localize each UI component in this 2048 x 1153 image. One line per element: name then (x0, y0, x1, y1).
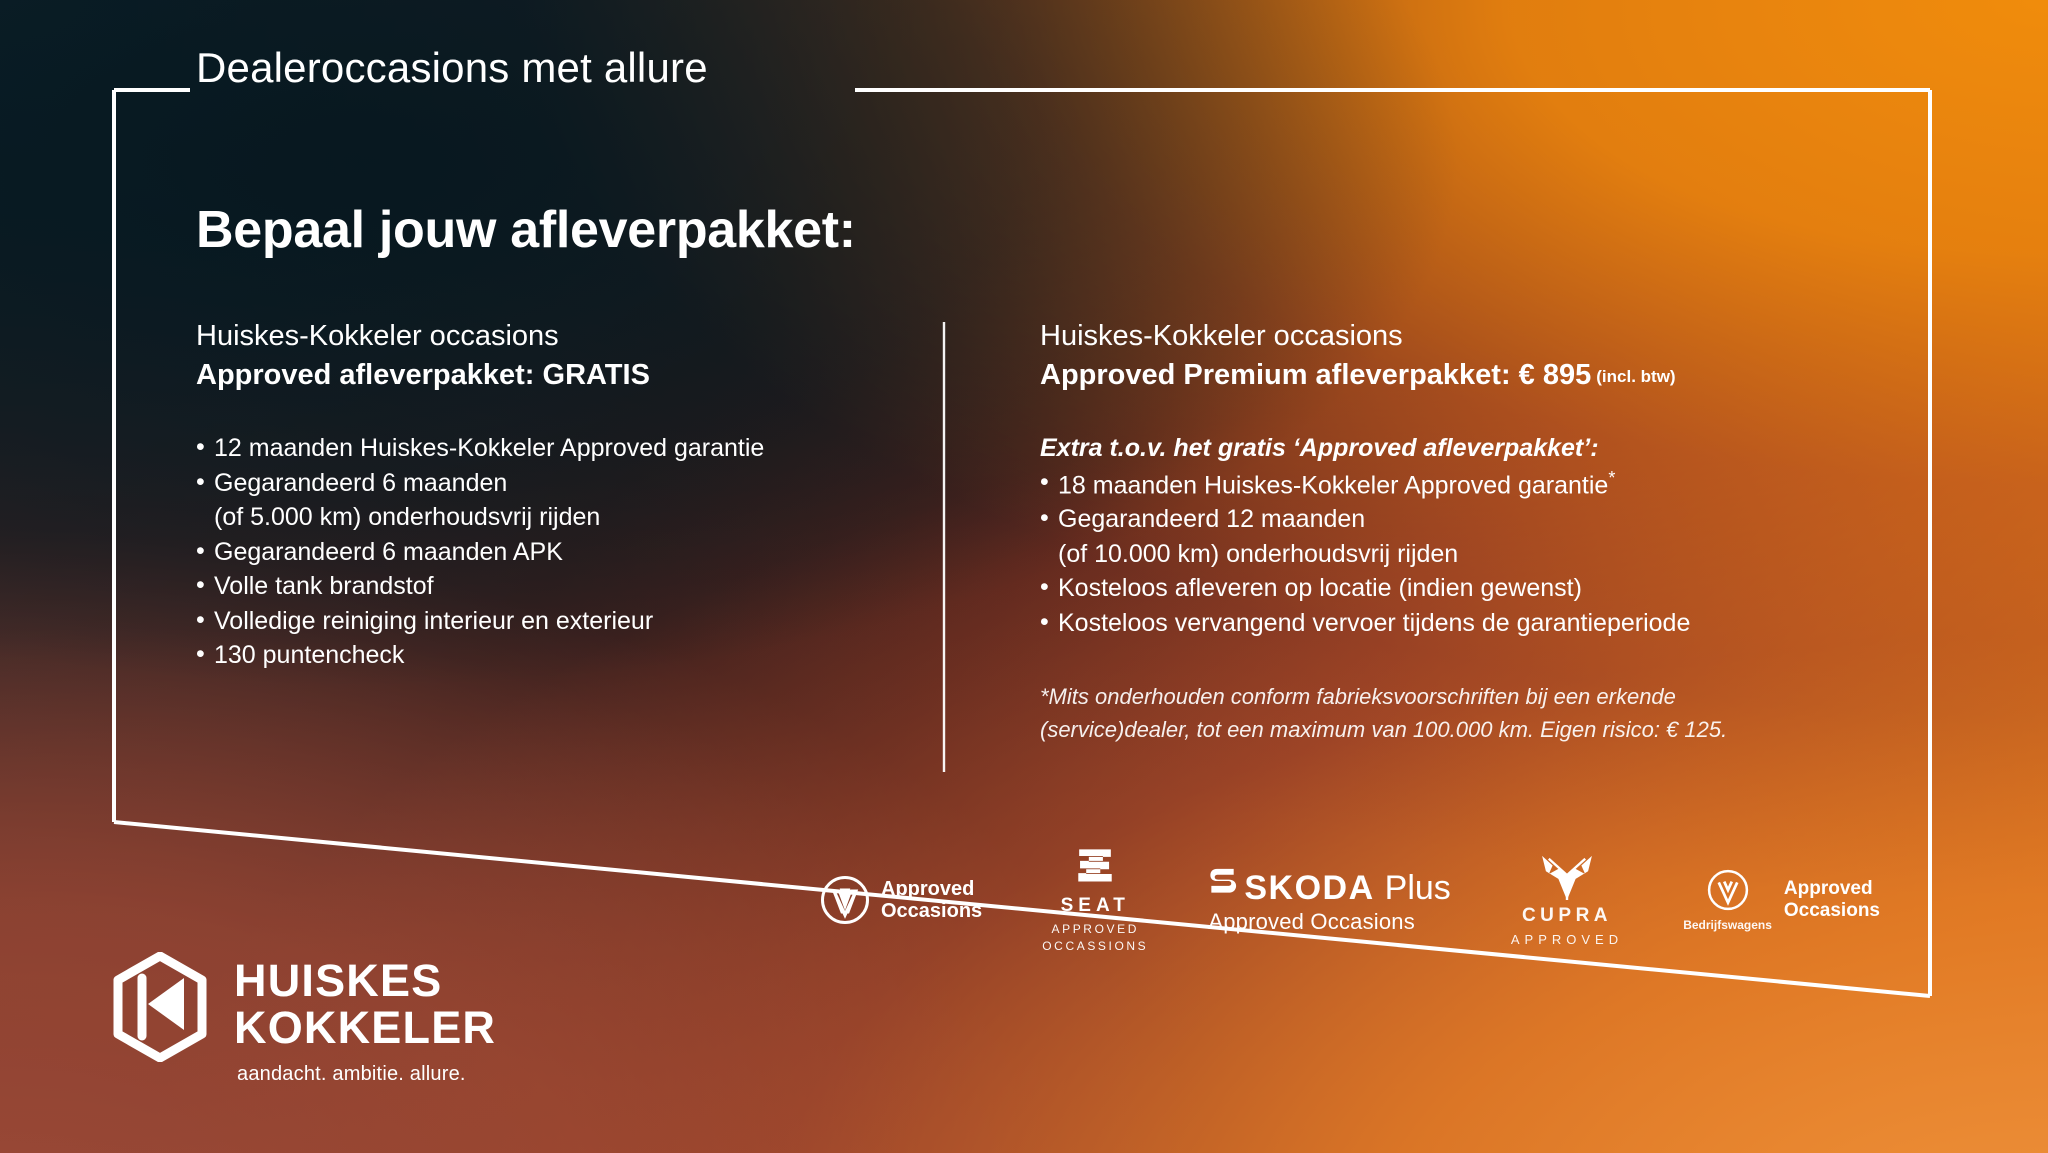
vw-label-line-2: Occasions (881, 900, 982, 922)
list-item: Kosteloos afleveren op locatie (indien g… (1040, 571, 1860, 606)
package-column-premium: Huiskes-Kokkeler occasions Approved Prem… (1040, 318, 1860, 746)
list-item: Volledige reiniging interieur en exterie… (196, 604, 896, 639)
vwb-label-line-2: Occasions (1784, 900, 1880, 922)
footnote-line-1: *Mits onderhouden conform fabrieksvoorsc… (1040, 680, 1860, 713)
list-item-label: Kosteloos vervangend vervoer tijdens de … (1058, 609, 1690, 637)
list-item-label: (of 5.000 km) onderhoudsvrij rijden (214, 503, 600, 531)
standard-package-eyebrow: Huiskes-Kokkeler occasions (196, 318, 896, 355)
list-item: (of 5.000 km) onderhoudsvrij rijden (196, 500, 896, 535)
brand-volkswagen-approved-occasions: Approved Occasions (820, 875, 982, 925)
cupra-wordmark: CUPRA (1522, 905, 1612, 927)
vw-bedrijfswagens-mark: Bedrijfswagens (1683, 869, 1772, 932)
skoda-plus-label: Plus (1385, 869, 1451, 908)
dealer-name-block: HUISKES KOKKELER aandacht. ambitie. allu… (234, 958, 496, 1086)
skoda-logo-icon (1208, 865, 1238, 899)
vwb-label-line-1: Approved (1784, 878, 1880, 900)
list-item-label: Gegarandeerd 6 maanden APK (214, 538, 563, 566)
skoda-wordmark: SKODA (1244, 869, 1374, 908)
premium-package-eyebrow: Huiskes-Kokkeler occasions (1040, 318, 1860, 355)
list-item-label: Gegarandeerd 6 maanden (214, 469, 507, 497)
brand-cupra-approved: CUPRA APPROVED (1511, 854, 1623, 947)
vw-label-line-1: Approved (881, 878, 982, 900)
volkswagen-logo-icon (820, 875, 870, 925)
seat-sub-label: APPROVED OCCASSIONS (1042, 921, 1148, 956)
seat-logo-icon (1073, 845, 1117, 889)
list-item: (of 10.000 km) onderhoudsvrij rijden (1040, 537, 1860, 572)
volkswagen-logo-icon (1707, 869, 1749, 911)
list-item: Gegarandeerd 12 maanden (1040, 502, 1860, 537)
brand-skoda-plus-approved-occasions: SKODA Plus Approved Occasions (1208, 865, 1450, 935)
list-item-label: Gegarandeerd 12 maanden (1058, 505, 1365, 533)
list-item-label: 18 maanden Huiskes-Kokkeler Approved gar… (1058, 471, 1608, 499)
cupra-sub-label: APPROVED (1511, 932, 1623, 947)
list-item-label: (of 10.000 km) onderhoudsvrij rijden (1058, 540, 1458, 568)
seat-sub-line-1: APPROVED (1042, 921, 1148, 938)
seat-sub-line-2: OCCASSIONS (1042, 938, 1148, 955)
list-item: Kosteloos vervangend vervoer tijdens de … (1040, 606, 1860, 641)
premium-package-title: Approved Premium afleverpakket: € 895(in… (1040, 357, 1860, 394)
vw-approved-occasions-label: Approved Occasions (881, 878, 982, 923)
page-title: Bepaal jouw afleverpakket: (196, 200, 856, 260)
dealer-name-line-2: KOKKELER (234, 1005, 496, 1052)
dealer-logo: HUISKES KOKKELER aandacht. ambitie. allu… (112, 952, 496, 1086)
huiskes-kokkeler-hexagon-icon (112, 952, 208, 1062)
list-item-label: Volle tank brandstof (214, 572, 434, 600)
list-item: 130 puntencheck (196, 638, 896, 673)
cupra-logo-icon (1538, 854, 1596, 900)
footnote-line-2: (service)dealer, tot een maximum van 100… (1040, 713, 1860, 746)
brand-volkswagen-bedrijfswagens: Bedrijfswagens Approved Occasions (1683, 869, 1880, 932)
kicker-label: Dealeroccasions met allure (196, 44, 708, 92)
standard-package-feature-list: 12 maanden Huiskes-Kokkeler Approved gar… (196, 431, 896, 673)
list-item-label: 12 maanden Huiskes-Kokkeler Approved gar… (214, 434, 764, 462)
premium-package-vat-note: (incl. btw) (1596, 367, 1675, 386)
dealer-tagline: aandacht. ambitie. allure. (237, 1063, 496, 1086)
list-item: Volle tank brandstof (196, 569, 896, 604)
footnote-marker: * (1608, 468, 1615, 488)
list-item: 18 maanden Huiskes-Kokkeler Approved gar… (1040, 466, 1860, 503)
premium-package-feature-list: 18 maanden Huiskes-Kokkeler Approved gar… (1040, 466, 1860, 641)
list-item-label: Volledige reiniging interieur en exterie… (214, 607, 653, 635)
premium-footnote: *Mits onderhouden conform fabrieksvoorsc… (1040, 680, 1860, 746)
brand-logo-strip: Approved Occasions SEAT APPROVED OCCASSI… (820, 845, 1880, 955)
skoda-sub-label: Approved Occasions (1208, 909, 1415, 935)
vw-bedrijfswagens-approved-occasions-label: Approved Occasions (1784, 878, 1880, 921)
premium-package-price-label: Approved Premium afleverpakket: € 895 (1040, 359, 1591, 391)
seat-wordmark: SEAT (1061, 895, 1130, 917)
list-item: Gegarandeerd 6 maanden APK (196, 535, 896, 570)
list-item-label: 130 puntencheck (214, 641, 404, 669)
list-item: 12 maanden Huiskes-Kokkeler Approved gar… (196, 431, 896, 466)
premium-extra-block: Extra t.o.v. het gratis ‘Approved afleve… (1040, 431, 1860, 640)
premium-extra-heading: Extra t.o.v. het gratis ‘Approved afleve… (1040, 431, 1860, 466)
list-item: Gegarandeerd 6 maanden (196, 466, 896, 501)
standard-package-title: Approved afleverpakket: GRATIS (196, 357, 896, 394)
skoda-wordmark-row: SKODA Plus (1208, 865, 1450, 908)
list-item-label: Kosteloos afleveren op locatie (indien g… (1058, 574, 1582, 602)
brand-seat-approved-occassions: SEAT APPROVED OCCASSIONS (1042, 845, 1148, 956)
package-column-standard: Huiskes-Kokkeler occasions Approved afle… (196, 318, 896, 673)
vw-bedrijfswagens-label: Bedrijfswagens (1683, 918, 1772, 932)
dealer-name-line-1: HUISKES (234, 958, 496, 1005)
